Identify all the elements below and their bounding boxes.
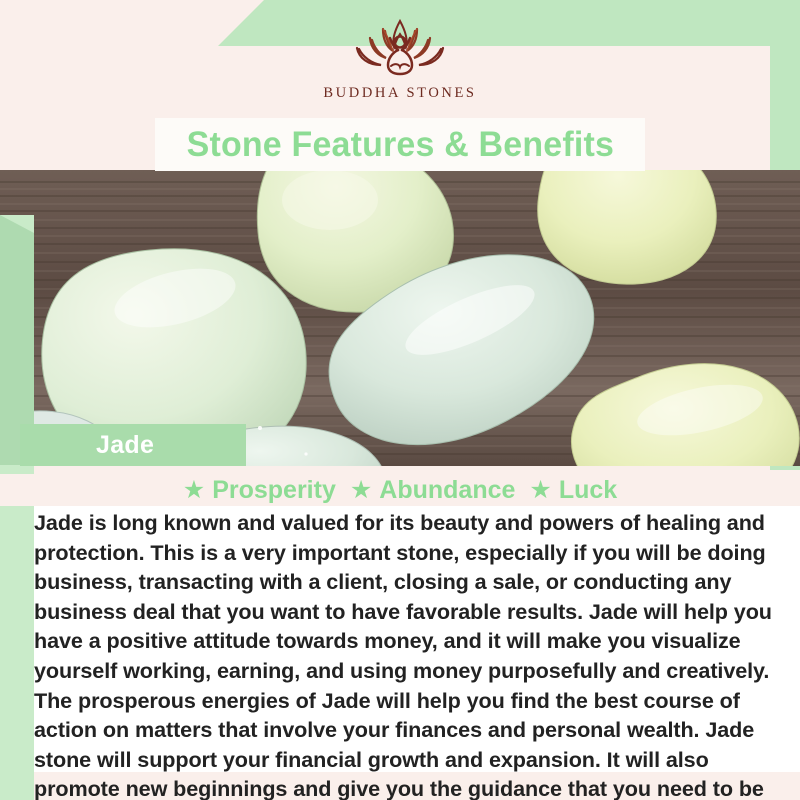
stone-name-banner: Jade [20,424,246,466]
lotus-meditation-icon [346,16,454,78]
benefit-item-abundance: ★ Abundance [350,476,516,505]
stone-photo [0,170,800,466]
brand-name: BUDDHA STONES [323,85,476,102]
star-icon: ★ [183,478,205,503]
description-block: Jade is long known and valued for its be… [34,506,800,772]
stone-photo-image [0,170,800,466]
brand-logo: BUDDHA STONES [0,16,800,102]
stone-name: Jade [96,431,154,460]
benefit-item-luck: ★ Luck [529,476,617,505]
benefit-item-prosperity: ★ Prosperity [183,476,336,505]
brand-header: BUDDHA STONES [0,0,800,120]
benefit-label: Prosperity [212,476,336,505]
benefits-row: ★ Prosperity ★ Abundance ★ Luck [0,474,800,506]
page-title: Stone Features & Benefits [186,125,613,165]
benefit-label: Abundance [379,476,515,505]
description-text: Jade is long known and valued for its be… [34,506,800,800]
title-banner: Stone Features & Benefits [155,118,645,171]
star-icon: ★ [529,478,551,503]
benefit-label: Luck [559,476,617,505]
stone-info-card: BUDDHA STONES Stone Features & Benefits [0,0,800,800]
star-icon: ★ [350,478,372,503]
